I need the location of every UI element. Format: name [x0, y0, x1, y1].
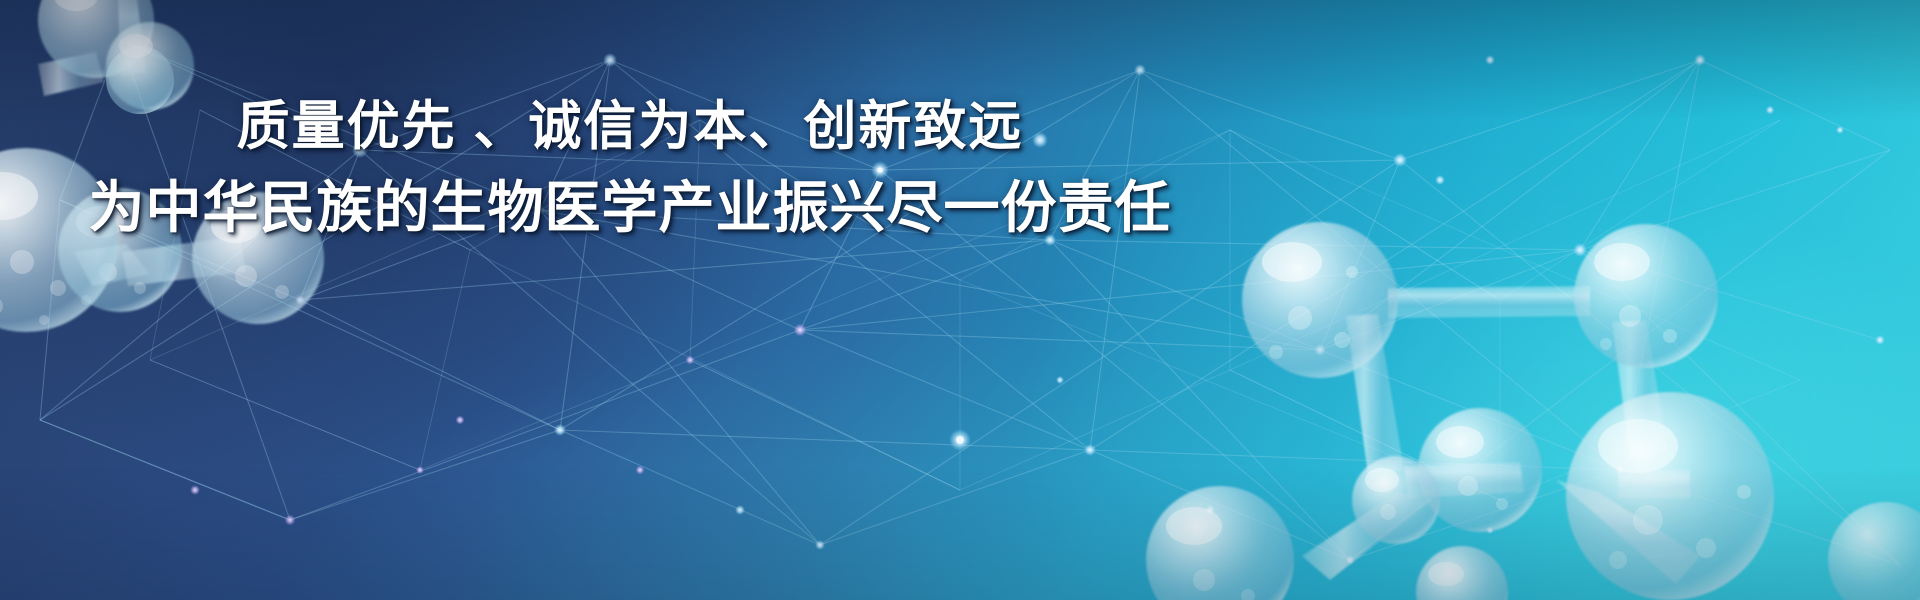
- hero-banner: 质量优先 、诚信为本、创新致远 为中华民族的生物医学产业振兴尽一份责任: [0, 0, 1920, 600]
- banner-vignette: [0, 0, 1920, 600]
